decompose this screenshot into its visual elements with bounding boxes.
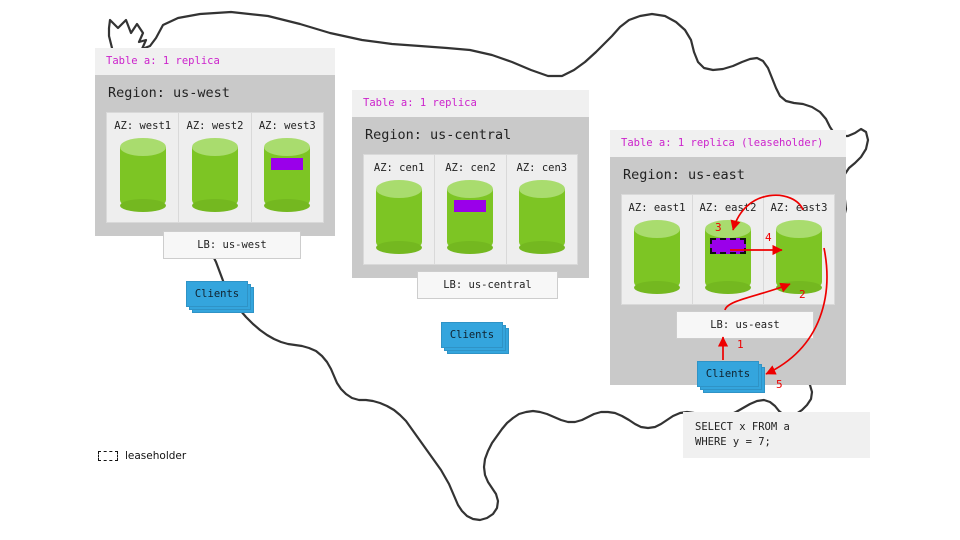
region-body-us-central: Region: us-central AZ: cen1 AZ: cen2: [352, 117, 589, 278]
clients-card-front[interactable]: Clients: [186, 281, 248, 307]
az-label-east1: AZ: east1: [622, 202, 692, 214]
node-cylinder-east1[interactable]: [634, 220, 680, 294]
cylinder-top: [120, 138, 166, 156]
cylinder-top: [264, 138, 310, 156]
flow-step-number-4: 4: [765, 231, 772, 244]
node-cylinder-cen3[interactable]: [519, 180, 565, 254]
az-label-west1: AZ: west1: [107, 120, 178, 132]
cylinder-top: [376, 180, 422, 198]
cylinder-bottom: [447, 241, 493, 254]
clients-card-front[interactable]: Clients: [697, 361, 759, 387]
az-label-cen1: AZ: cen1: [364, 162, 434, 174]
flow-step-number-1: 1: [737, 338, 744, 351]
az-cell-cen1[interactable]: AZ: cen1: [364, 155, 435, 264]
az-cell-cen2[interactable]: AZ: cen2: [435, 155, 506, 264]
region-panel-us-west: Table a: 1 replica Region: us-west AZ: w…: [95, 48, 335, 236]
region-body-us-east: Region: us-east AZ: east1 AZ: east2: [610, 157, 846, 385]
region-body-us-west: Region: us-west AZ: west1 AZ: west2: [95, 75, 335, 236]
clients-label: Clients: [450, 329, 494, 341]
leaseholder-swatch-icon: [98, 451, 118, 461]
clients-stack-us-east[interactable]: Clients: [697, 361, 759, 387]
load-balancer-us-central[interactable]: LB: us-central: [417, 271, 558, 299]
az-strip-us-central: AZ: cen1 AZ: cen2: [363, 154, 578, 265]
az-label-west3: AZ: west3: [252, 120, 323, 132]
replica-marker-cen2: [454, 200, 486, 212]
node-cylinder-west2[interactable]: [192, 138, 238, 212]
cylinder-top: [776, 220, 822, 238]
region-title-us-central: Region: us-central: [363, 117, 578, 154]
replica-marker-west3: [271, 158, 303, 170]
region-title-us-west: Region: us-west: [106, 75, 324, 112]
node-cylinder-cen2[interactable]: [447, 180, 493, 254]
flow-step-number-2: 2: [799, 288, 806, 301]
table-replica-label-us-west: Table a: 1 replica: [95, 48, 335, 75]
clients-stack-us-west[interactable]: Clients: [186, 281, 248, 307]
cylinder-top: [634, 220, 680, 238]
legend-label-leaseholder: leaseholder: [125, 450, 186, 462]
az-cell-west3[interactable]: AZ: west3: [252, 113, 323, 222]
az-cell-west2[interactable]: AZ: west2: [179, 113, 251, 222]
az-strip-us-west: AZ: west1 AZ: west2: [106, 112, 324, 223]
region-panel-us-east: Table a: 1 replica (leaseholder) Region:…: [610, 130, 846, 385]
table-replica-label-us-east: Table a: 1 replica (leaseholder): [610, 130, 846, 157]
az-cell-cen3[interactable]: AZ: cen3: [507, 155, 577, 264]
clients-label: Clients: [706, 368, 750, 380]
cylinder-bottom: [120, 199, 166, 212]
clients-label: Clients: [195, 288, 239, 300]
table-replica-label-us-central: Table a: 1 replica: [352, 90, 589, 117]
az-cell-west1[interactable]: AZ: west1: [107, 113, 179, 222]
sql-query-box: SELECT x FROM a WHERE y = 7;: [683, 412, 870, 458]
flow-step-number-3: 3: [715, 221, 722, 234]
region-title-us-east: Region: us-east: [621, 157, 835, 194]
cylinder-bottom: [264, 199, 310, 212]
diagram-canvas: Table a: 1 replica Region: us-west AZ: w…: [0, 0, 960, 540]
az-label-cen2: AZ: cen2: [435, 162, 505, 174]
node-cylinder-west3[interactable]: [264, 138, 310, 212]
cylinder-top: [192, 138, 238, 156]
clients-stack-us-central[interactable]: Clients: [441, 322, 503, 348]
load-balancer-us-west[interactable]: LB: us-west: [163, 231, 301, 259]
az-label-cen3: AZ: cen3: [507, 162, 577, 174]
flow-step-number-5: 5: [776, 378, 783, 391]
node-cylinder-west1[interactable]: [120, 138, 166, 212]
node-cylinder-east3[interactable]: [776, 220, 822, 294]
az-cell-east1[interactable]: AZ: east1: [622, 195, 693, 304]
cylinder-top: [519, 180, 565, 198]
cylinder-top: [705, 220, 751, 238]
cylinder-bottom: [192, 199, 238, 212]
cylinder-bottom: [634, 281, 680, 294]
cylinder-bottom: [376, 241, 422, 254]
cylinder-bottom: [705, 281, 751, 294]
node-cylinder-east2[interactable]: [705, 220, 751, 294]
az-label-west2: AZ: west2: [179, 120, 250, 132]
az-label-east3: AZ: east3: [764, 202, 834, 214]
az-label-east2: AZ: east2: [693, 202, 763, 214]
region-panel-us-central: Table a: 1 replica Region: us-central AZ…: [352, 90, 589, 278]
cylinder-bottom: [519, 241, 565, 254]
az-cell-east2[interactable]: AZ: east2: [693, 195, 764, 304]
clients-card-front[interactable]: Clients: [441, 322, 503, 348]
node-cylinder-cen1[interactable]: [376, 180, 422, 254]
leaseholder-replica-marker-east2: [710, 238, 746, 254]
load-balancer-us-east[interactable]: LB: us-east: [676, 311, 814, 339]
legend: leaseholder: [98, 450, 186, 462]
